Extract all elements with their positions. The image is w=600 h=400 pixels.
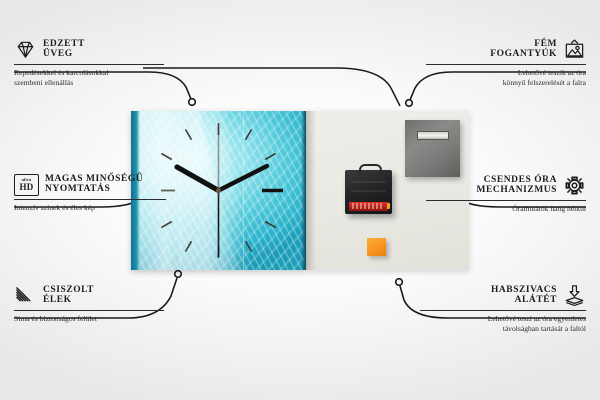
diamond-icon [14,38,37,61]
feature-desc-line1: Intenzív színek és éles kép [14,203,166,213]
feature-title-line2: ÜVEG [43,50,73,60]
foam-layers-icon [563,284,586,307]
feature-desc-line1: Lehetővé teszik az óra [426,68,586,78]
feature-desc-line1: Sima és biztonságos felület [14,314,164,324]
ultra-hd-icon: ultra HD [14,174,39,196]
feature-description: Intenzív színek és éles kép [14,203,166,213]
feature-description: Lehetővé teszik az óra könnyű felszerelé… [426,68,586,88]
feature-header: ultra HD MAGAS MINŐSÉGŰ NYOMTATÁS [14,174,166,196]
feature-titles: MAGAS MINŐSÉGŰ NYOMTATÁS [45,175,143,194]
connector-line-tempered-glass [143,68,400,106]
feature-tempered-glass: EDZETT ÜVEG Repedésekkel és karcolásokka… [14,38,164,88]
feature-desc-line1: Repedésekkel és karcolásokkal [14,68,164,78]
infographic-canvas: EDZETT ÜVEG Repedésekkel és karcolásokka… [0,0,600,400]
feature-titles: CSENDES ÓRA MECHANIZMUS [477,176,557,195]
feature-desc-line2: könnyű felszerelését a falra [426,78,586,88]
feature-description: Lehetővé teszi az óra egyenletes távolsá… [420,314,586,334]
mechanism-ridge-mid [351,190,386,192]
connector-dot-foam-pad [396,279,403,286]
feature-header: CSENDES ÓRA MECHANIZMUS [426,174,586,197]
feature-titles: HABSZIVACS ALÁTÉT [491,286,557,305]
feature-title-line2: NYOMTATÁS [45,185,110,195]
aa-battery [349,202,388,211]
feature-title-line2: ALÁTÉT [515,296,557,306]
gear-icon [563,174,586,197]
mechanism-hanging-loop [359,164,382,175]
clock-minute-hand [219,166,268,191]
feature-divider [14,310,164,311]
feature-header: EDZETT ÜVEG [14,38,164,61]
ultra-hd-icon-large-text: HD [19,183,33,192]
feature-description: Óramutatók hang nélkül [426,204,586,214]
feature-high-quality-print: ultra HD MAGAS MINŐSÉGŰ NYOMTATÁS Intenz… [14,174,166,213]
feature-description: Repedésekkel és karcolásokkal szembeni e… [14,68,164,88]
feature-title-line2: MECHANIZMUS [477,186,557,196]
feature-description: Sima és biztonságos felület [14,314,164,324]
connector-dot-tempered-glass [189,99,196,106]
product-image [131,111,469,270]
feature-header: HABSZIVACS ALÁTÉT [420,284,586,307]
feature-divider [14,199,166,200]
feature-desc-line1: Óramutatók hang nélkül [426,204,586,214]
feature-divider [426,64,586,65]
connector-dot-metal-handles [406,100,413,107]
feature-foam-pad: HABSZIVACS ALÁTÉT Lehetővé teszi az óra … [420,284,586,334]
feature-polished-edges: CSISZOLT ÉLEK Sima és biztonságos felüle… [14,284,164,324]
battery-label [352,203,383,209]
connector-dot-polished-edges [175,271,182,278]
feature-desc-line2: szembeni ellenállás [14,78,164,88]
feature-divider [420,310,586,311]
foam-pad [367,238,386,256]
feature-header: FÉM FOGANTYÚK [426,38,586,61]
back-panel-shadow [306,111,316,270]
feature-divider [426,200,586,201]
feature-title-line2: ÉLEK [43,296,72,306]
feature-titles: EDZETT ÜVEG [43,40,85,59]
battery-terminal [387,203,390,209]
clock-hour-hand [177,167,219,191]
feature-title-line2: FOGANTYÚK [490,50,557,60]
feature-desc-line2: távolságban tartását a faltól [420,324,586,334]
picture-hanger-icon [563,38,586,61]
clock-center-cap [216,188,221,193]
feature-silent-mechanism: CSENDES ÓRA MECHANIZMUS Óramutatók hang … [426,174,586,214]
feature-divider [14,64,164,65]
feature-titles: FÉM FOGANTYÚK [490,40,557,59]
clock-mechanism-box [345,170,392,214]
feature-desc-line1: Lehetővé teszi az óra egyenletes [420,314,586,324]
polished-edge-icon [14,284,37,307]
feature-header: CSISZOLT ÉLEK [14,284,164,307]
hanger-keyhole-slot [417,131,449,140]
feature-metal-handles: FÉM FOGANTYÚK Lehetővé teszik az óra kön… [426,38,586,88]
mechanism-ridge-top [351,181,386,183]
feature-titles: CSISZOLT ÉLEK [43,286,94,305]
metal-hanger-plate [405,120,460,177]
